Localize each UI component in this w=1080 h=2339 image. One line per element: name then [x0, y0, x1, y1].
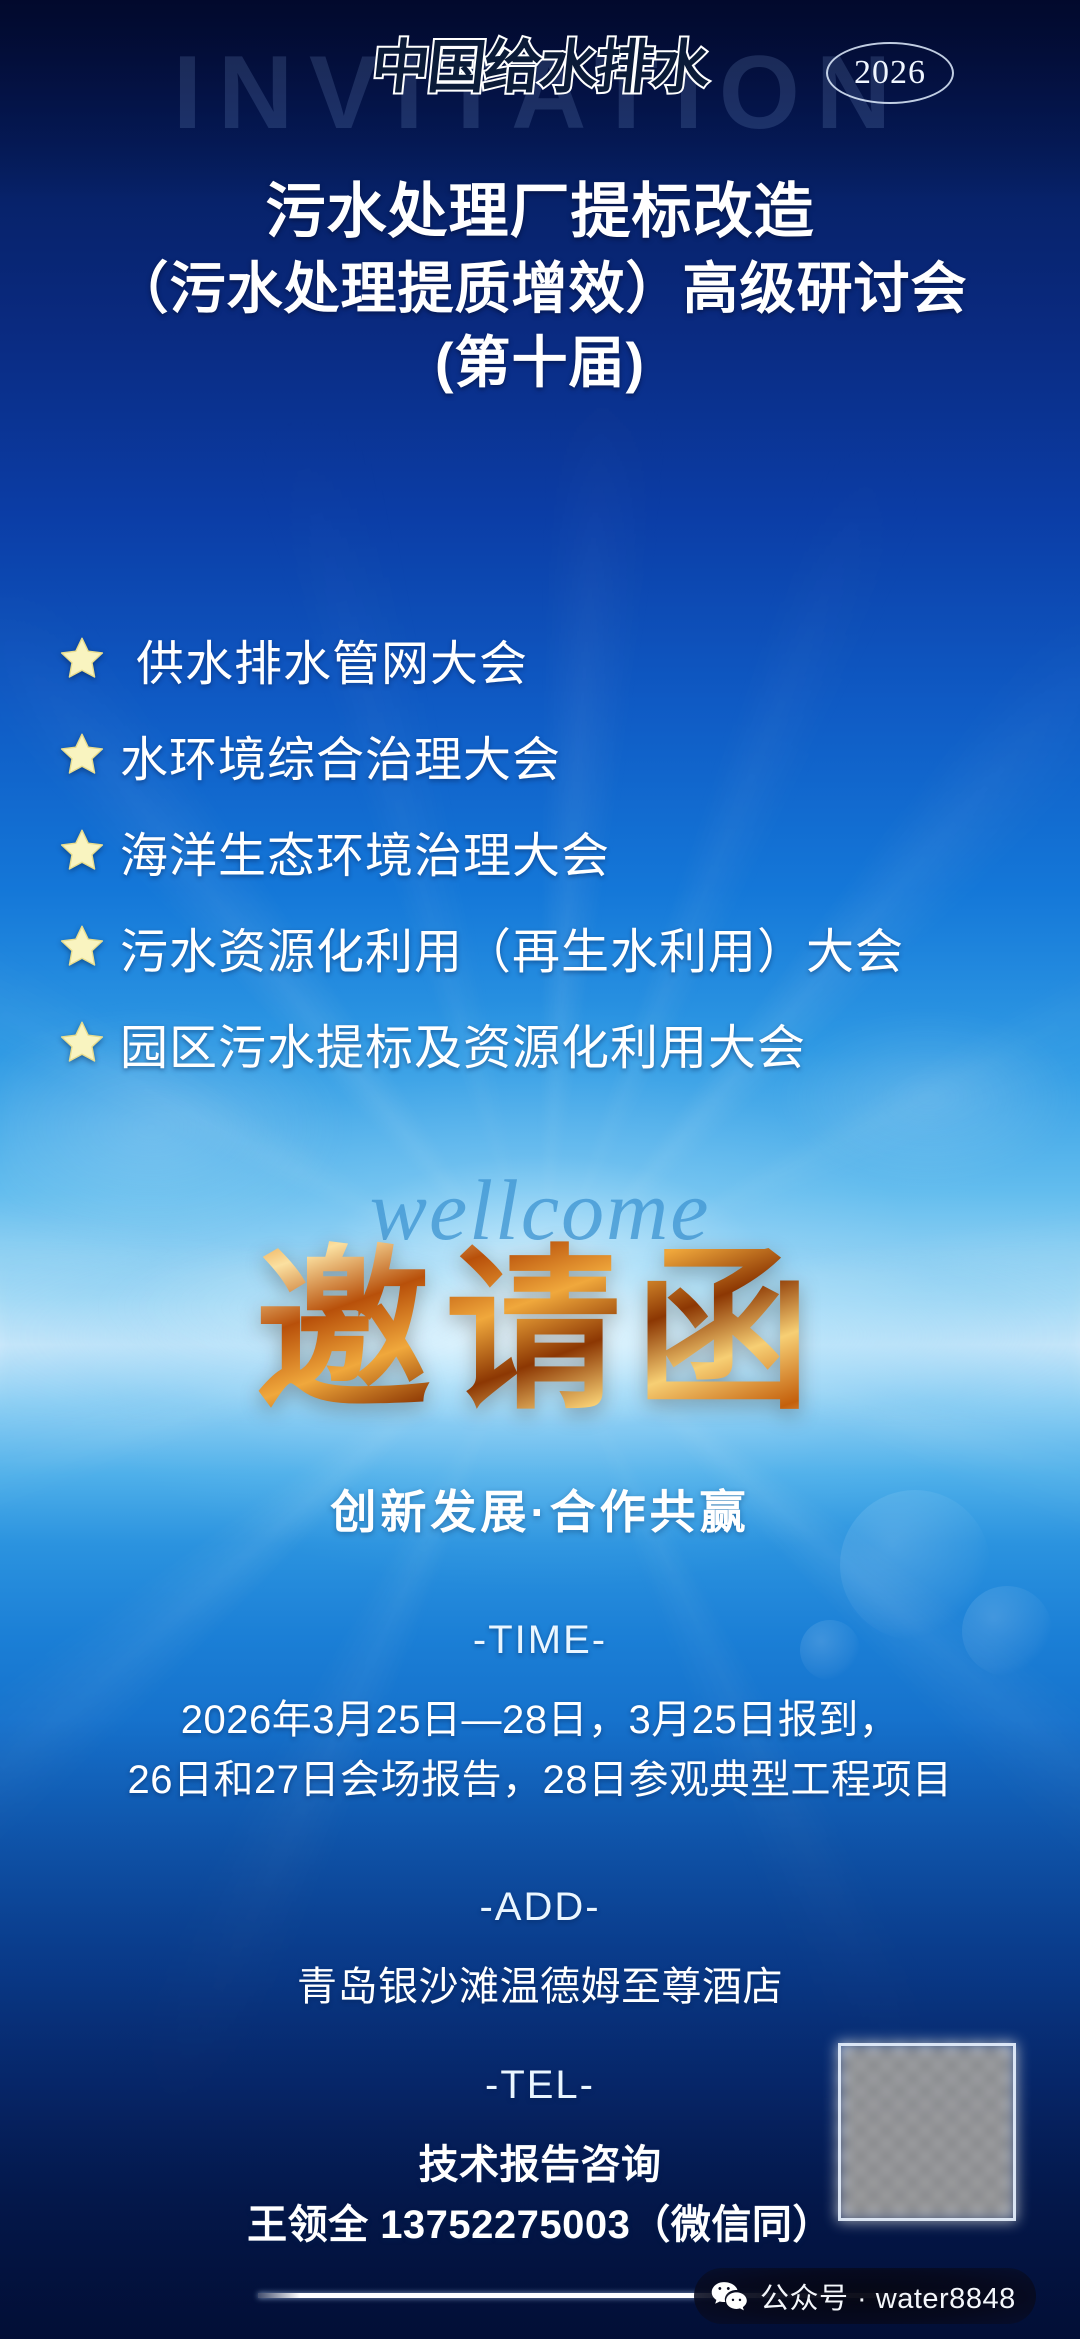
list-item: 海洋生态环境治理大会 [58, 814, 1038, 888]
address-section-heading: -ADD- [0, 1885, 1080, 1930]
list-item-label: 园区污水提标及资源化利用大会 [120, 1008, 806, 1078]
list-item-label: 水环境综合治理大会 [120, 720, 561, 790]
time-heading-label: -TIME- [0, 1618, 1080, 1663]
time-line-2: 26日和27日会场报告，28日参观典型工程项目 [0, 1750, 1080, 1810]
star-icon [58, 923, 106, 971]
list-item-label: 污水资源化利用（再生水利用）大会 [120, 912, 904, 982]
address-section-body: 青岛银沙滩温德姆至尊酒店 [0, 1957, 1080, 2017]
list-item: 供水排水管网大会 [58, 622, 1038, 696]
title-line-2: （污水处理提质增效）高级研讨会 [0, 252, 1080, 326]
list-item-label: 海洋生态环境治理大会 [120, 816, 610, 886]
poster-header: INVITATION 中国给水排水 2026 [0, 0, 1080, 160]
wechat-account-label: 公众号 · water8848 [760, 2275, 1016, 2317]
wechat-account-badge[interactable]: 公众号 · water8848 [694, 2268, 1036, 2324]
title-line-3: (第十届) [0, 326, 1080, 400]
time-section-heading: -TIME- [0, 1618, 1080, 1663]
topic-list: 供水排水管网大会 水环境综合治理大会 海洋生态环境治理大会 污水资源化利用（再生… [58, 622, 1038, 1102]
brand-logo: 中国给水排水 [372, 38, 708, 96]
qr-code-frame [838, 2043, 1016, 2221]
list-item-label: 供水排水管网大会 [136, 624, 528, 694]
list-item: 水环境综合治理大会 [58, 718, 1038, 792]
invitation-poster: INVITATION 中国给水排水 2026 污水处理厂提标改造 （污水处理提质… [0, 0, 1080, 2339]
time-section-body: 2026年3月25日—28日，3月25日报到， 26日和27日会场报告，28日参… [0, 1690, 1080, 1810]
star-icon [58, 1019, 106, 1067]
page-title: 污水处理厂提标改造 （污水处理提质增效）高级研讨会 (第十届) [0, 172, 1080, 401]
brand-logo-text: 中国给水排水 [369, 38, 711, 96]
year-badge-label: 2026 [854, 54, 926, 92]
star-icon [58, 635, 106, 683]
tagline: 创新发展·合作共赢 [0, 1476, 1080, 1542]
address-heading-label: -ADD- [0, 1885, 1080, 1930]
title-line-1: 污水处理厂提标改造 [0, 172, 1080, 252]
star-icon [58, 827, 106, 875]
star-icon [58, 731, 106, 779]
year-badge: 2026 [826, 42, 954, 104]
wechat-icon [710, 2280, 748, 2312]
time-line-1: 2026年3月25日—28日，3月25日报到， [0, 1690, 1080, 1750]
list-item: 园区污水提标及资源化利用大会 [58, 1006, 1038, 1080]
address-line-1: 青岛银沙滩温德姆至尊酒店 [0, 1957, 1080, 2017]
invitation-headline: 邀请函 [0, 1240, 1080, 1425]
list-item: 污水资源化利用（再生水利用）大会 [58, 910, 1038, 984]
